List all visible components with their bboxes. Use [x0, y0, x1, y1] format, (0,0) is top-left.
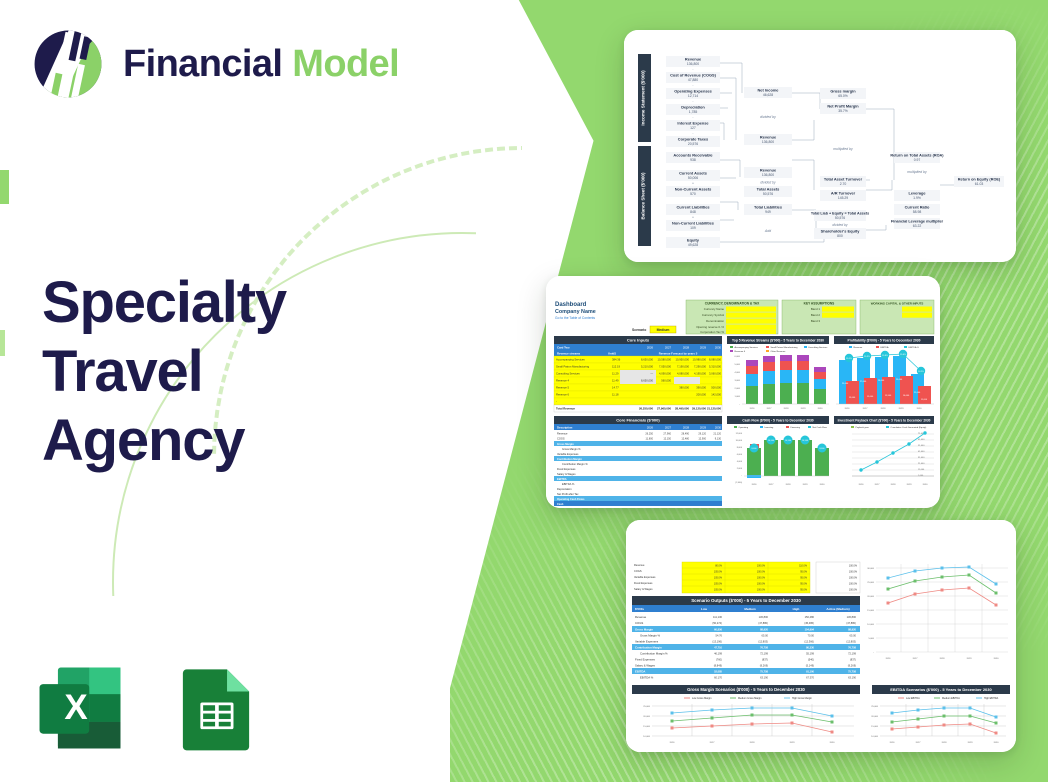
- svg-text:15,000: 15,000: [867, 396, 874, 398]
- svg-text:47,710: 47,710: [714, 645, 722, 649]
- svg-text:1,000: 1,000: [735, 396, 741, 398]
- svg-text:divided by: divided by: [832, 223, 848, 227]
- svg-text:-: -: [556, 401, 557, 404]
- svg-text:136,800: 136,800: [847, 615, 857, 619]
- svg-text:2028: 2028: [683, 345, 690, 349]
- svg-text:25,000: 25,000: [842, 383, 849, 385]
- dashboard-spreadsheet: Dashboard Company Name Go to the Table o…: [546, 276, 940, 508]
- svg-text:25,000: 25,000: [643, 706, 650, 708]
- svg-text:Financial Leverage multiplier: Financial Leverage multiplier: [891, 220, 944, 224]
- svg-text:51,000: 51,000: [918, 445, 925, 447]
- svg-text:61.03: 61.03: [975, 182, 984, 186]
- svg-text:49,628: 49,628: [688, 243, 698, 247]
- svg-text:Fixed Expenses: Fixed Expenses: [557, 467, 576, 471]
- svg-text:52,085: 52,085: [714, 669, 722, 673]
- svg-text:A/R Turnover: A/R Turnover: [831, 191, 856, 196]
- svg-text:Variable Expenses: Variable Expenses: [557, 452, 579, 456]
- svg-text:(760): (760): [716, 657, 722, 661]
- svg-text:X: X: [64, 688, 87, 727]
- svg-text:5,000: 5,000: [735, 364, 741, 366]
- svg-text:Cost of Revenue (COGS): Cost of Revenue (COGS): [670, 73, 717, 78]
- svg-text:Contribution Margin %: Contribution Margin %: [562, 462, 588, 466]
- svg-text:20,000: 20,000: [867, 596, 874, 598]
- svg-text:28,490: 28,490: [681, 432, 689, 435]
- svg-text:2029: 2029: [907, 484, 913, 486]
- svg-text:10,000: 10,000: [736, 440, 743, 442]
- svg-text:1.9%: 1.9%: [913, 196, 921, 200]
- svg-text:Net Profit Margin: Net Profit Margin: [827, 104, 859, 109]
- svg-text:Company Name: Company Name: [555, 309, 596, 315]
- svg-text:14.77: 14.77: [612, 386, 619, 390]
- svg-text:2030: 2030: [917, 408, 923, 410]
- svg-text:Revenue: Revenue: [635, 615, 647, 619]
- svg-text:Depreciation: Depreciation: [681, 105, 705, 110]
- svg-text:Active (Medium): Active (Medium): [826, 607, 849, 611]
- svg-text:0.97: 0.97: [914, 158, 921, 162]
- svg-text:2029: 2029: [790, 742, 796, 744]
- svg-text:150,480: 150,480: [805, 615, 815, 619]
- svg-text:2026: 2026: [647, 345, 654, 349]
- svg-text:10,000: 10,000: [871, 736, 878, 738]
- svg-text:2027: 2027: [916, 742, 922, 744]
- svg-text:multiplied by: multiplied by: [833, 147, 853, 151]
- svg-text:10,500: 10,500: [785, 440, 792, 442]
- svg-text:Leverage: Leverage: [908, 191, 926, 196]
- svg-text:High Gross Margin: High Gross Margin: [792, 697, 813, 700]
- svg-text:Small Patron Manufacturing: Small Patron Manufacturing: [771, 346, 799, 349]
- svg-text:Current Assets: Current Assets: [679, 171, 707, 176]
- svg-text:29,120: 29,120: [698, 432, 706, 435]
- screenshot-card-scenarios[interactable]: Revenue COGS Variable Expenses Fixed Exp…: [626, 520, 1016, 752]
- svg-text:2029: 2029: [700, 345, 707, 349]
- page-title-line-3: Agency: [42, 406, 286, 475]
- svg-text:80.0%: 80.0%: [715, 564, 723, 567]
- svg-text:(13,196): (13,196): [712, 639, 722, 643]
- svg-text:500,000: 500,000: [711, 386, 721, 390]
- svg-text:4,080,000: 4,080,000: [677, 372, 689, 376]
- svg-text:Consulting Services: Consulting Services: [808, 346, 828, 349]
- svg-text:Medium: Medium: [657, 328, 670, 332]
- svg-text:136,800: 136,800: [762, 140, 774, 144]
- svg-text:Variable Expenses: Variable Expenses: [635, 639, 659, 643]
- svg-text:11,000: 11,000: [921, 399, 928, 401]
- svg-text:2028: 2028: [683, 425, 690, 429]
- svg-text:380,000: 380,000: [679, 386, 689, 390]
- svg-text:65.00: 65.00: [850, 633, 857, 637]
- svg-text:2028: 2028: [881, 408, 887, 410]
- svg-text:2028: 2028: [750, 742, 756, 744]
- svg-text:COGS: COGS: [634, 569, 642, 573]
- svg-text:11,000: 11,000: [918, 469, 925, 471]
- svg-text:(8,849): (8,849): [714, 663, 722, 667]
- svg-text:divided by: divided by: [760, 181, 776, 185]
- svg-text:7,290,000: 7,290,000: [694, 365, 706, 369]
- svg-text:10,580,000: 10,580,000: [658, 358, 672, 362]
- svg-text:EBITDA %: EBITDA %: [640, 675, 654, 679]
- screenshot-card-dashboard[interactable]: Dashboard Company Name Go to the Table o…: [546, 276, 940, 508]
- page-title-line-1: Specialty: [42, 268, 286, 337]
- svg-text:Operating Cash Flows: Operating Cash Flows: [557, 497, 585, 501]
- svg-text:(12,803): (12,803): [846, 639, 856, 643]
- svg-text:100.0%: 100.0%: [849, 570, 858, 573]
- svg-text:63.22: 63.22: [913, 224, 922, 228]
- svg-text:100.0%: 100.0%: [849, 588, 858, 591]
- svg-text:Scenario Outputs ($'000) - 5 Y: Scenario Outputs ($'000) - 5 Years to De…: [691, 598, 801, 603]
- svg-text:8,000: 8,000: [751, 448, 757, 450]
- svg-text:Band 2: Band 2: [811, 313, 821, 317]
- svg-text:91,100: 91,100: [806, 669, 814, 673]
- svg-text:88,920: 88,920: [760, 627, 768, 631]
- svg-text:105.0%: 105.0%: [714, 570, 723, 573]
- svg-text:30,000: 30,000: [867, 568, 874, 570]
- svg-text:100.0%: 100.0%: [849, 582, 858, 585]
- svg-text:61,000: 61,000: [918, 439, 925, 441]
- svg-text:Medium Gross Margin: Medium Gross Margin: [738, 697, 762, 700]
- svg-text:Gross margin: Gross margin: [830, 89, 856, 94]
- svg-text:63.190: 63.190: [760, 675, 768, 679]
- svg-text:-: -: [692, 68, 693, 72]
- svg-text:1,785: 1,785: [689, 110, 698, 114]
- svg-text:390,000: 390,000: [696, 386, 706, 390]
- svg-text:2030: 2030: [994, 742, 1000, 744]
- svg-text:3,000: 3,000: [735, 380, 741, 382]
- svg-text:-: -: [692, 116, 693, 120]
- svg-text:Cash: Cash: [557, 502, 564, 506]
- svg-text:High EBITDA: High EBITDA: [984, 697, 999, 700]
- svg-text:(9,269): (9,269): [760, 663, 768, 667]
- svg-text:7,050,000: 7,050,000: [659, 365, 671, 369]
- svg-text:Revenue streams: Revenue streams: [557, 351, 581, 355]
- svg-text:+: +: [692, 216, 694, 220]
- svg-text:21,000: 21,000: [914, 392, 921, 394]
- svg-text:25,000: 25,000: [871, 706, 878, 708]
- svg-text:95.0%: 95.0%: [800, 576, 808, 579]
- svg-text:Revenue: Revenue: [760, 135, 777, 140]
- svg-text:105.0%: 105.0%: [714, 588, 723, 591]
- svg-text:Low Gross Margin: Low Gross Margin: [692, 697, 712, 700]
- svg-text:60.170: 60.170: [714, 675, 722, 679]
- svg-text:Revenue: Revenue: [685, 57, 702, 62]
- svg-text:2028: 2028: [786, 484, 792, 486]
- svg-text:(47,880): (47,880): [846, 621, 856, 625]
- svg-text:20,000: 20,000: [643, 716, 650, 718]
- svg-text:Other Revenue: Other Revenue: [771, 350, 787, 353]
- svg-text:Gross Margin %: Gross Margin %: [562, 447, 581, 451]
- svg-text:100.0%: 100.0%: [757, 576, 766, 579]
- svg-text:(50,274): (50,274): [712, 621, 722, 625]
- svg-text:12,714: 12,714: [688, 94, 698, 98]
- svg-text:Card Two: Card Two: [557, 345, 570, 349]
- svg-text:Go to the Table of Contents: Go to the Table of Contents: [555, 316, 595, 320]
- svg-text:8,650,000: 8,650,000: [641, 358, 653, 362]
- ratio-tree-spreadsheet: Income Statement ($'000) Balance Sheet (…: [624, 30, 1016, 262]
- svg-text:58.98: 58.98: [913, 210, 922, 214]
- svg-text:Revenue 5: Revenue 5: [556, 386, 570, 390]
- svg-text:53.2%: 53.2%: [918, 371, 924, 373]
- svg-text:938: 938: [690, 158, 696, 162]
- svg-text:5,210,000: 5,210,000: [641, 365, 653, 369]
- svg-text:2026: 2026: [859, 484, 865, 486]
- svg-text:10,000: 10,000: [643, 736, 650, 738]
- svg-text:27,960,000: 27,960,000: [657, 407, 671, 411]
- svg-text:Operating Expenses: Operating Expenses: [674, 89, 712, 94]
- svg-text:Gross Margin: Gross Margin: [635, 627, 653, 631]
- svg-text:50,576: 50,576: [763, 192, 773, 196]
- svg-text:21,120,000: 21,120,000: [707, 407, 721, 411]
- svg-text:Investing: Investing: [765, 426, 775, 429]
- svg-text:2026: 2026: [647, 425, 654, 429]
- svg-text:75,758: 75,758: [848, 669, 856, 673]
- svg-text:Medium EBITDA: Medium EBITDA: [942, 697, 960, 700]
- svg-text:Current Ratio: Current Ratio: [905, 205, 930, 210]
- svg-text:Net Cash Flow: Net Cash Flow: [813, 426, 828, 429]
- svg-text:2027: 2027: [767, 408, 773, 410]
- svg-text:105.0%: 105.0%: [714, 582, 723, 585]
- brand-name-part2: Model: [292, 43, 399, 85]
- svg-text:2028: 2028: [891, 484, 897, 486]
- svg-text:Accompanying Services: Accompanying Services: [735, 346, 759, 349]
- svg-text:31,000: 31,000: [918, 457, 925, 459]
- svg-text:EBITDA: EBITDA: [557, 477, 567, 481]
- left-edge-accent-tab: [0, 170, 9, 204]
- svg-text:2027: 2027: [665, 345, 672, 349]
- svg-text:105.0%: 105.0%: [714, 576, 723, 579]
- svg-text:Core Inputs: Core Inputs: [627, 338, 650, 343]
- svg-text:KEY ASSUMPTIONS: KEY ASSUMPTIONS: [804, 302, 835, 306]
- svg-text:2.70: 2.70: [840, 182, 847, 186]
- svg-text:95.0%: 95.0%: [800, 570, 808, 573]
- svg-text:100.0%: 100.0%: [757, 564, 766, 567]
- svg-text:145.29: 145.29: [838, 196, 848, 200]
- svg-text:(47,880): (47,880): [758, 621, 768, 625]
- svg-text:55.8%: 55.8%: [882, 355, 888, 357]
- svg-text:76,758: 76,758: [760, 645, 768, 649]
- svg-text:-: -: [692, 84, 693, 88]
- svg-text:100.0%: 100.0%: [757, 570, 766, 573]
- svg-text:2027: 2027: [913, 658, 919, 660]
- svg-text:2027: 2027: [710, 742, 716, 744]
- svg-text:12,000: 12,000: [736, 433, 743, 435]
- svg-text:2026: 2026: [670, 742, 676, 744]
- svg-text:11.29: 11.29: [612, 372, 619, 376]
- svg-text:136,800: 136,800: [759, 615, 769, 619]
- screenshot-card-ratio-tree[interactable]: Income Statement ($'000) Balance Sheet (…: [624, 30, 1016, 262]
- svg-text:112.19: 112.19: [612, 365, 621, 369]
- svg-text:EBITDA: EBITDA: [881, 346, 889, 349]
- svg-text:20,576: 20,576: [688, 142, 698, 146]
- svg-text:11.18: 11.18: [612, 393, 619, 397]
- svg-text:2029: 2029: [801, 408, 807, 410]
- svg-text:(9,269): (9,269): [848, 663, 856, 667]
- svg-text:Accompanying Services: Accompanying Services: [556, 358, 585, 362]
- svg-text:46,199: 46,199: [714, 651, 722, 655]
- svg-text:11.49: 11.49: [612, 379, 619, 383]
- svg-text:5,000: 5,000: [869, 638, 875, 640]
- svg-text:-: -: [692, 132, 693, 136]
- page-title: Specialty Travel Agency: [42, 268, 286, 475]
- svg-text:Gross Margin Scenarios ($'000): Gross Margin Scenarios ($'000) - 5 Years…: [687, 687, 805, 692]
- svg-text:Fixed Expenses: Fixed Expenses: [634, 581, 653, 585]
- svg-text:6,000: 6,000: [737, 454, 743, 456]
- svg-text:72,199: 72,199: [848, 651, 856, 655]
- svg-text:2029: 2029: [967, 658, 973, 660]
- svg-text:Net Profit after Tax: Net Profit after Tax: [557, 492, 579, 496]
- svg-text:Income Statement ($'000): Income Statement ($'000): [641, 70, 646, 126]
- svg-text:47,880: 47,880: [688, 78, 698, 82]
- svg-text:Dashboard: Dashboard: [555, 302, 587, 308]
- svg-text:13,000: 13,000: [849, 397, 856, 399]
- svg-text:109: 109: [690, 226, 696, 230]
- svg-text:Total Liabilities: Total Liabilities: [754, 205, 782, 210]
- svg-text:Cash Flow ($'000) - 5 Years to: Cash Flow ($'000) - 5 Years to December …: [742, 419, 813, 423]
- svg-text:Salary & Wages: Salary & Wages: [635, 663, 656, 667]
- svg-text:Revenue 6: Revenue 6: [556, 393, 570, 397]
- svg-text:Total Revenue: Total Revenue: [556, 407, 575, 411]
- svg-text:6,000: 6,000: [735, 356, 741, 358]
- svg-text:100.0%: 100.0%: [757, 588, 766, 591]
- svg-text:100.0%: 100.0%: [849, 576, 858, 579]
- left-edge-accent-tab-small: [0, 330, 5, 356]
- svg-text:Revenue: Revenue: [557, 431, 568, 435]
- svg-text:Band 1: Band 1: [811, 307, 821, 311]
- svg-text:2026: 2026: [752, 484, 758, 486]
- svg-text:Current Liabilities: Current Liabilities: [676, 205, 709, 210]
- svg-text:4,090,000: 4,090,000: [659, 372, 671, 376]
- svg-text:EBITDA Scenarios ($'000) - 5 Y: EBITDA Scenarios ($'000) - 5 Years to De…: [890, 687, 992, 692]
- svg-text:(45,486): (45,486): [804, 621, 814, 625]
- svg-text:Non-Current Liabilities: Non-Current Liabilities: [672, 221, 714, 226]
- svg-text:55.1%: 55.1%: [846, 358, 852, 360]
- svg-text:Revenue Forecast by years 5: Revenue Forecast by years 5: [659, 351, 698, 355]
- svg-text:Variable Expenses: Variable Expenses: [634, 575, 656, 579]
- svg-text:2027: 2027: [863, 408, 869, 410]
- svg-text:111,130: 111,130: [713, 615, 723, 619]
- svg-text:(540): (540): [808, 657, 814, 661]
- svg-text:104,994: 104,994: [805, 627, 815, 631]
- svg-text:Total Liab + Equity = Total As: Total Liab + Equity = Total Assets: [811, 212, 869, 216]
- svg-text:-: -: [692, 100, 693, 104]
- microsoft-excel-icon[interactable]: X: [34, 662, 126, 754]
- svg-text:11,800: 11,800: [646, 437, 654, 440]
- svg-text:EBITDA %: EBITDA %: [562, 482, 575, 486]
- svg-text:384.36: 384.36: [612, 358, 621, 362]
- svg-text:Small Patron Manufacturing: Small Patron Manufacturing: [556, 365, 590, 369]
- svg-text:2027: 2027: [769, 484, 775, 486]
- svg-text:65.00: 65.00: [762, 633, 769, 637]
- svg-text:4,000: 4,000: [735, 372, 741, 374]
- svg-text:Interest Expense: Interest Expense: [677, 121, 709, 126]
- scenario-outputs-spreadsheet: Revenue COGS Variable Expenses Fixed Exp…: [626, 520, 1016, 752]
- svg-text:15,000: 15,000: [643, 726, 650, 728]
- svg-text:88,920: 88,920: [848, 627, 856, 631]
- svg-text:Top 5 Revenue Streams ($'000): Top 5 Revenue Streams ($'000) - 5 Years …: [732, 339, 824, 343]
- svg-text:Contribution Margin: Contribution Margin: [557, 457, 582, 461]
- svg-text:2028: 2028: [940, 658, 946, 660]
- svg-text:63.190: 63.190: [848, 675, 856, 679]
- svg-text:multiplied by: multiplied by: [907, 170, 927, 174]
- svg-text:High: High: [793, 607, 800, 611]
- svg-text:2029: 2029: [803, 484, 809, 486]
- svg-text:65.0%: 65.0%: [838, 94, 848, 98]
- google-sheets-icon[interactable]: [170, 662, 262, 754]
- svg-text:10,500: 10,500: [802, 440, 809, 442]
- svg-text:Gross Margin: Gross Margin: [557, 442, 574, 446]
- svg-text:15,000: 15,000: [871, 726, 878, 728]
- svg-text:70.00: 70.00: [808, 633, 815, 637]
- svg-text:80,330: 80,330: [806, 645, 814, 649]
- svg-text:Balance Sheet ($'000): Balance Sheet ($'000): [641, 172, 646, 220]
- svg-text:2029: 2029: [899, 408, 905, 410]
- svg-text:Total Assets: Total Assets: [757, 187, 780, 192]
- svg-text:Salary & Wages: Salary & Wages: [634, 587, 653, 591]
- svg-text:15,500: 15,500: [885, 395, 892, 397]
- financial-model-circle-logo-icon: [30, 26, 106, 102]
- svg-text:15,000: 15,000: [867, 610, 874, 612]
- svg-text:Payback year: Payback year: [856, 426, 870, 429]
- svg-text:(2,000): (2,000): [735, 482, 742, 484]
- svg-text:Profitability ($'000) - 5 Year: Profitability ($'000) - 5 Years to Decem…: [848, 339, 921, 343]
- svg-text:12,150: 12,150: [663, 437, 671, 440]
- svg-text:41,000: 41,000: [918, 451, 925, 453]
- svg-text:Revenue: Revenue: [760, 168, 777, 173]
- svg-text:29,000: 29,000: [896, 379, 903, 381]
- svg-text:75,758: 75,758: [760, 669, 768, 673]
- svg-text:Opening reverse 0 / 0: Opening reverse 0 / 0: [696, 325, 724, 329]
- svg-text:55.3%: 55.3%: [864, 356, 870, 358]
- svg-text:2,000: 2,000: [737, 468, 743, 470]
- svg-text:COGS: COGS: [635, 621, 643, 625]
- svg-text:COGS: COGS: [557, 436, 565, 440]
- svg-text:9,130: 9,130: [715, 437, 722, 440]
- brand-name-part1: Financial: [123, 43, 292, 85]
- svg-text:Cumulative Cash Generated (Equ: Cumulative Cash Generated (Equity): [891, 426, 927, 429]
- svg-text:95.0%: 95.0%: [800, 588, 808, 591]
- svg-text:200,000: 200,000: [696, 393, 706, 397]
- svg-text:26,250: 26,250: [645, 432, 653, 435]
- svg-text:3,060,000: 3,060,000: [709, 372, 721, 376]
- svg-text:21,120: 21,120: [713, 432, 721, 435]
- svg-text:Revenue 4: Revenue 4: [735, 351, 746, 353]
- svg-text:Currency Symbol: Currency Symbol: [702, 313, 725, 317]
- svg-text:2030: 2030: [994, 658, 1000, 660]
- svg-text:2030: 2030: [715, 425, 722, 429]
- svg-text:25,000: 25,000: [867, 582, 874, 584]
- svg-text:95.0%: 95.0%: [800, 582, 808, 585]
- svg-text:Fixed Expenses: Fixed Expenses: [635, 657, 656, 661]
- svg-text:136,800: 136,800: [762, 173, 774, 177]
- svg-text:10,500: 10,500: [768, 440, 775, 442]
- svg-text:—: —: [650, 373, 653, 376]
- svg-text:55.6%: 55.6%: [900, 354, 906, 356]
- svg-text:76,758: 76,758: [848, 645, 856, 649]
- svg-text:(12,366): (12,366): [804, 639, 814, 643]
- svg-text:50,576: 50,576: [835, 216, 845, 220]
- svg-text:2030: 2030: [923, 484, 929, 486]
- svg-text:Return on Equity (ROE): Return on Equity (ROE): [958, 178, 1001, 182]
- svg-text:Revenue 4: Revenue 4: [556, 379, 570, 383]
- svg-text:EBITDA %: EBITDA %: [909, 346, 919, 349]
- svg-text:570: 570: [690, 192, 696, 196]
- svg-text:2026: 2026: [890, 742, 896, 744]
- svg-text:2026: 2026: [750, 408, 756, 410]
- svg-text:136,800: 136,800: [687, 62, 699, 66]
- svg-text:2030: 2030: [830, 742, 836, 744]
- svg-text:949: 949: [765, 210, 771, 214]
- svg-text:(837): (837): [850, 657, 856, 661]
- svg-text:2027: 2027: [665, 425, 672, 429]
- svg-text:Band 3: Band 3: [811, 319, 821, 323]
- svg-text:27,000: 27,000: [860, 381, 867, 383]
